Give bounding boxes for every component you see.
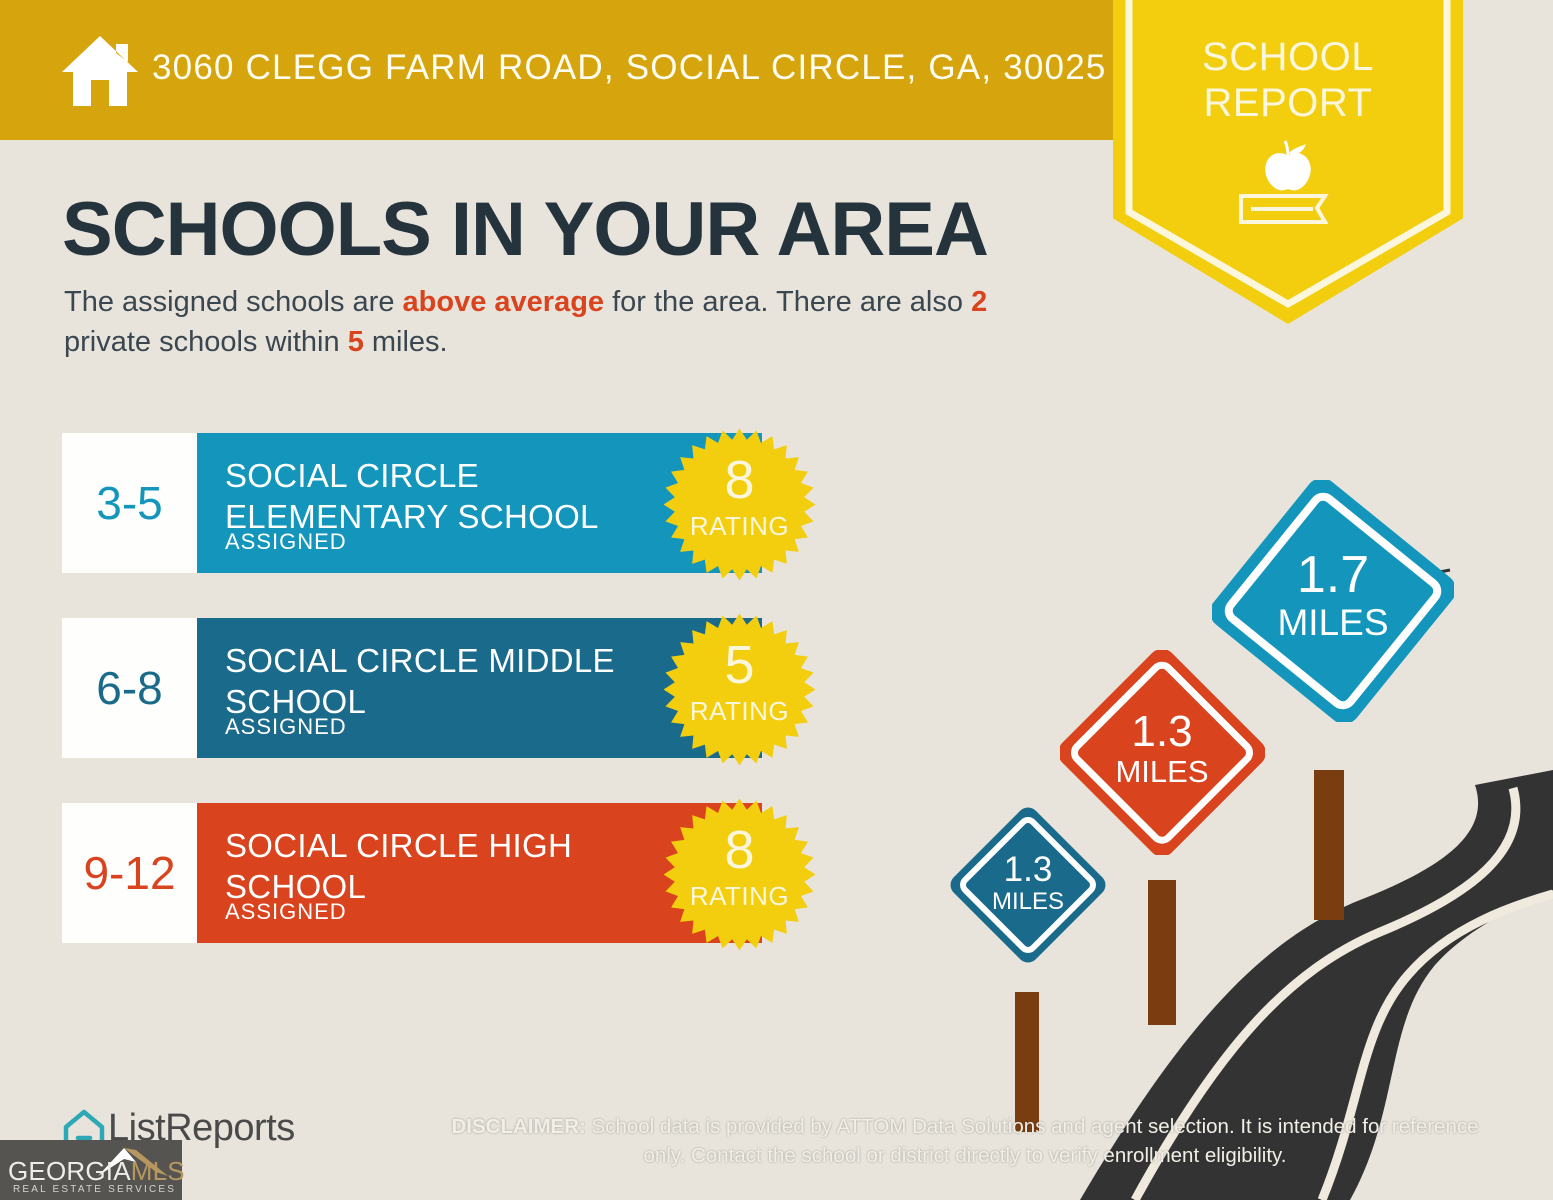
sign-distance-2: 1.3 [1131, 707, 1192, 756]
apple-and-book-icon [1233, 140, 1343, 232]
sign-post-2 [1148, 880, 1176, 1025]
sign-distance-3: 1.7 [1297, 546, 1369, 604]
badge-title-line1: SCHOOL [1113, 34, 1463, 80]
sign-unit-3: MILES [1277, 602, 1388, 643]
house-icon [58, 32, 142, 110]
subtitle-highlight-rating: above average [403, 286, 605, 318]
georgiamls-logo[interactable]: GEORGIAMLS REAL ESTATE SERVICES [0, 1140, 182, 1200]
sign-post-1 [1015, 992, 1039, 1132]
badge-title: SCHOOL REPORT [1113, 34, 1463, 126]
rating-word: RATING [662, 881, 817, 912]
rating-word: RATING [662, 696, 817, 727]
page-title: SCHOOLS IN YOUR AREA [62, 186, 988, 273]
apple-icon [1265, 141, 1310, 190]
subtitle-highlight-radius: 5 [348, 326, 364, 358]
school-row[interactable]: 3-5 SOCIAL CIRCLE ELEMENTARY SCHOOL ASSI… [62, 433, 762, 573]
school-status: ASSIGNED [225, 714, 347, 740]
school-row[interactable]: 6-8 SOCIAL CIRCLE MIDDLE SCHOOL ASSIGNED… [62, 618, 762, 758]
disclaimer-body: School data is provided by ATTOM Data So… [586, 1115, 1479, 1167]
georgiamls-tagline: REAL ESTATE SERVICES [13, 1184, 176, 1195]
property-address: 3060 CLEGG FARM ROAD, SOCIAL CIRCLE, GA,… [152, 48, 1107, 88]
rating-badge: 8 RATING [662, 797, 817, 952]
school-status: ASSIGNED [225, 529, 347, 555]
school-name: SOCIAL CIRCLE MIDDLE SCHOOL [225, 640, 665, 722]
rating-value: 8 [662, 453, 817, 507]
school-report-infographic: 3060 CLEGG FARM ROAD, SOCIAL CIRCLE, GA,… [0, 0, 1553, 1200]
rating-value: 8 [662, 823, 817, 877]
subtitle-text-1: The assigned schools are [64, 286, 403, 318]
grade-range-label: 3-5 [96, 476, 162, 530]
grade-range-box: 9-12 [62, 803, 197, 943]
georgiamls-wordmark: GEORGIAMLS [8, 1156, 185, 1187]
sign-unit-2: MILES [1115, 754, 1208, 789]
rating-badge: 8 RATING [662, 427, 817, 582]
disclaimer-label: DISCLAIMER: [451, 1115, 585, 1138]
header-bar: 3060 CLEGG FARM ROAD, SOCIAL CIRCLE, GA,… [0, 0, 1113, 140]
grade-range-box: 3-5 [62, 433, 197, 573]
sign-post-3 [1314, 770, 1344, 920]
road-sign-small: 1.3 MILES [948, 805, 1108, 965]
subtitle-text-2: for the area. There are also [604, 286, 971, 318]
road-signs-illustration: 1.7 MILES 1.3 MILES 1.3 MILES [930, 470, 1553, 1200]
subtitle-text-4: miles. [364, 326, 448, 358]
school-report-badge: SCHOOL REPORT [1113, 0, 1463, 324]
rating-badge: 5 RATING [662, 612, 817, 767]
subtitle-text-3: private schools within [64, 326, 348, 358]
mls-mls-text: MLS [131, 1156, 185, 1186]
subtitle-highlight-count: 2 [971, 286, 987, 318]
rating-word: RATING [662, 511, 817, 542]
sign-distance-1: 1.3 [1004, 850, 1053, 889]
rating-value: 5 [662, 638, 817, 692]
book-icon [1241, 196, 1325, 222]
grade-range-label: 9-12 [83, 846, 175, 900]
mls-georgia-text: GEORGIA [8, 1156, 131, 1186]
school-row[interactable]: 9-12 SOCIAL CIRCLE HIGH SCHOOL ASSIGNED … [62, 803, 762, 943]
disclaimer-text: DISCLAIMER: School data is provided by A… [440, 1112, 1490, 1170]
grade-range-label: 6-8 [96, 661, 162, 715]
school-name: SOCIAL CIRCLE HIGH SCHOOL [225, 825, 665, 907]
school-status: ASSIGNED [225, 899, 347, 925]
badge-title-line2: REPORT [1113, 80, 1463, 126]
grade-range-box: 6-8 [62, 618, 197, 758]
sign-unit-1: MILES [992, 888, 1064, 915]
school-name: SOCIAL CIRCLE ELEMENTARY SCHOOL [225, 455, 665, 537]
page-subtitle: The assigned schools are above average f… [64, 282, 1074, 362]
